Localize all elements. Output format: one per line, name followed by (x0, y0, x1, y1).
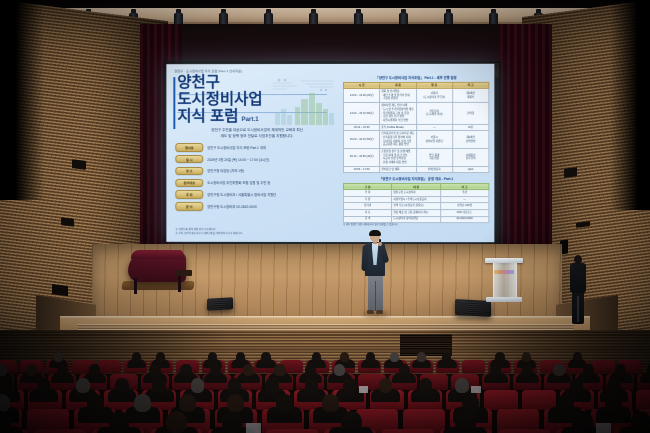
audience-member-head (57, 364, 68, 376)
program-cell-speaker: 법무·회계 자문위원 (416, 148, 452, 166)
theater-seat (34, 429, 86, 433)
handout-paper (596, 423, 611, 433)
audience-member-head (390, 352, 399, 362)
bullet-badge: 장 소 (175, 167, 203, 175)
audience-member-head (134, 394, 151, 412)
audience-member-head (553, 364, 564, 376)
program-cell-time: 15:20 ~ 16:10 (50분) (344, 131, 380, 149)
bullet-badge: 문 의 (175, 202, 203, 210)
audience-member-head (305, 364, 316, 376)
title-accent-rule (173, 77, 175, 129)
curtain-valance (140, 24, 552, 60)
program-cell-speaker: 전체 발표자 (416, 166, 452, 173)
audience-member-head (132, 352, 141, 362)
program-table-row: 14:00 ~ 14:20 (20분)개회 및 인사말씀 · 내빈 소개 및 참… (344, 88, 489, 102)
audience-member-head (265, 378, 279, 392)
lectern-light-band (494, 270, 514, 274)
audience-member-head (417, 352, 426, 362)
audience-member-head (0, 364, 7, 376)
program-cell-topic: 신속통합기획 및 모아타운 제도 · 신속통합기획 절차와 사례 · 모아타운 … (380, 131, 416, 149)
theater-seat (484, 390, 518, 410)
theater-seat (636, 390, 650, 410)
program-cell-speaker: 전문강사 (도시계획 박사) (416, 103, 452, 125)
slide-topbar: 양천구 · 도시정비사업 지식 포럼 (Part.1 안내자료) (174, 68, 489, 73)
program-cell-note: Q&A (452, 166, 488, 173)
bullet-text: 2025년 3월 20일 (목) 14:00 ~ 17:00 (3시간) (207, 157, 269, 162)
handout-paper (471, 386, 481, 393)
wall-speaker-left (72, 159, 86, 170)
right-corner-shadow (610, 0, 650, 210)
audience-member-head (149, 364, 160, 376)
theater-seat (462, 360, 485, 373)
audience-member-head (166, 411, 187, 433)
bullet-text: 양천구청 도시정비과 02-2620-0000 (207, 204, 257, 209)
theater-seat (592, 360, 615, 373)
program-cell-topic: 조합운영 실무 및 분쟁 예방 · 조합 회계 및 자금 관리 · 시공사 선정… (380, 148, 416, 166)
piano-bench (176, 270, 192, 276)
program-cell-topic: 개회 및 인사말씀 · 내빈 소개 및 참석자 안내 · 구청장 환영사 (380, 89, 416, 103)
audience-member-head (89, 364, 100, 376)
acrylic-lectern (489, 258, 519, 302)
program-cell-note: 사례중심 실무강의 (452, 148, 488, 166)
info-cell-n: 02-2620-0000 (440, 216, 489, 223)
audience-member-head (455, 411, 476, 433)
program-cell-topic: 질의응답 및 폐회 (380, 166, 416, 173)
audience-member-head (366, 352, 375, 362)
audience-member-head (274, 364, 285, 376)
info-table-body: 주 최양천구청 도시정비과주관후 원서울특별시 / 주택도시보증공사—참가비전액… (344, 190, 489, 223)
audience-member-head (305, 378, 319, 392)
auditorium-photo: 양천구 · 도시정비사업 지식 포럼 (Part.1 안내자료) (0, 0, 650, 433)
audience-member-head (607, 378, 621, 392)
presentation-slide: 양천구 · 도시정비사업 지식 포럼 (Part.1 안내자료) (166, 64, 494, 242)
audience-member-head (343, 378, 357, 392)
bullet-text: 양천구청 도시정비과 / 서울특별시 정비사업 지원단 (207, 192, 276, 197)
bullet-badge: 일 시 (175, 155, 203, 163)
audience-member-head (462, 394, 479, 412)
audience-member-head (179, 394, 196, 412)
bullet-badge: 행사명 (175, 143, 203, 151)
slide-right-column: 「양천구 도시정비사업 지식포럼」 Part.1 - 세부 진행 일정 시 간내… (343, 75, 489, 237)
audience-member-head (570, 378, 584, 392)
audience-member-head (109, 411, 130, 433)
slide-lead-text: 양천구 주민을 대상으로 도시정비사업의 체계적인 교육과 최신 제도 및 정책… (179, 128, 335, 139)
bullet-badge: 주 최 (175, 190, 203, 198)
program-cell-time: 14:00 ~ 14:20 (20분) (344, 89, 380, 103)
info-cell-v: 도시정비과 정비지원팀 (392, 216, 440, 223)
audience-member-head (180, 364, 191, 376)
audience-member-head (37, 378, 51, 392)
slide-bullet-item: 일 시2025년 3월 20일 (목) 14:00 ~ 17:00 (3시간) (175, 155, 339, 163)
theater-seat (498, 429, 550, 433)
audience-member-head (228, 378, 242, 392)
slide-bullet-item: 주 최양천구청 도시정비과 / 서울특별시 정비사업 지원단 (175, 190, 339, 198)
audience-member-head (191, 378, 205, 392)
program-cell-speaker: 사회자 (도시정비과 주무관) (416, 88, 452, 102)
program-cell-topic: 정비사업 제도 전반 이해 · 도시 및 주거환경정비법 개요 · 추진위원회 … (380, 103, 416, 125)
handout-paper (246, 423, 261, 433)
audience-member-head (276, 394, 293, 412)
projection-screen: 양천구 · 도시정비사업 지식 포럼 (Part.1 안내자료) (166, 64, 494, 242)
audience-member-head (615, 364, 626, 376)
audience-member-head (522, 352, 531, 362)
audience-member-head (455, 378, 469, 392)
wall-vent-left (52, 284, 68, 296)
program-cell-note: 제2세션 정책설명 (452, 131, 488, 149)
stage-monitor-speaker-left (207, 297, 233, 310)
audience-member-head (340, 352, 349, 362)
slide-bullet-item: 행사명양천구 도시정비사업 지식 포럼 Part.1 개최 (175, 143, 339, 151)
theater-seat (382, 429, 434, 433)
program-table: 시 간내 용발 표비 고 14:00 ~ 14:20 (20분)개회 및 인사말… (343, 81, 489, 173)
info-table-footnote: ※ 세부 일정은 현장 사정에 따라 일부 변경될 수 있습니다. (343, 224, 489, 228)
audience-member-head (156, 352, 165, 362)
audience-member-head (236, 352, 245, 362)
program-table-title: 「양천구 도시정비사업 지식포럼」 Part.1 - 세부 진행 일정 (343, 75, 489, 80)
program-table-row: 16:50 ~ 17:00질의응답 및 폐회전체 발표자Q&A (344, 166, 489, 173)
audience-member-head (495, 352, 504, 362)
audience-member-head (243, 364, 254, 376)
audience-member-head (399, 364, 410, 376)
audience-member-head (26, 364, 37, 376)
audience-member-head (152, 378, 166, 392)
bullet-badge: 참석대상 (175, 179, 203, 187)
audience-member-head (490, 364, 501, 376)
handout-paper (359, 386, 369, 393)
audience-member-head (334, 364, 345, 376)
audience-member-head (0, 394, 10, 412)
slide-bullet-list: 행사명양천구 도시정비사업 지식 포럼 Part.1 개최일 시2025년 3월… (175, 143, 339, 210)
audience-member-head (54, 352, 63, 362)
program-table-body: 14:00 ~ 14:20 (20분)개회 및 인사말씀 · 내빈 소개 및 참… (344, 88, 489, 172)
audience-member-head (631, 411, 650, 433)
info-table: 구 분내 용비 고 주 최양천구청 도시정비과주관후 원서울특별시 / 주택도시… (343, 183, 489, 223)
audience-member-head (222, 411, 243, 433)
slide-left-column: 양천구 도시정비사업 지식 포럼 Part.1 양천구 주민을 대상으로 도시정… (171, 75, 339, 237)
wall-fixture-left (61, 217, 74, 227)
bullet-text: 양천구 도시정비사업 지식 포럼 Part.1 개최 (207, 145, 266, 150)
wall-speaker-right (564, 167, 577, 178)
slide-bullet-item: 참석대상도시정비사업 추진위원회·조합 임원 및 주민 등 (175, 179, 339, 187)
audience-member-head (341, 411, 362, 433)
audience-member-head (312, 352, 321, 362)
audience-member-head (76, 378, 90, 392)
audience-member-head (227, 394, 244, 412)
slide-title-part: Part.1 (241, 116, 258, 123)
audience-member-head (115, 378, 129, 392)
city-skyline-illustration (271, 77, 337, 129)
slide-footnotes: ※ 사전등록 없이 현장 참석 가능합니다. ※ 주차 공간이 협소하오니 대중… (175, 228, 243, 236)
program-cell-note: 제1세션 개회식 (452, 88, 488, 102)
info-table-title: 「양천구 도시정비사업 지식포럼」 운영 개요 - Part.1 (343, 176, 489, 181)
audience-member-head (419, 378, 433, 392)
slide-bullet-item: 장 소양천구청 대강당 (지하 1층) (175, 167, 339, 175)
audience-member-head (208, 352, 217, 362)
audience-member-head (572, 411, 593, 433)
program-table-row: 14:20 ~ 15:10 (50분)정비사업 제도 전반 이해 · 도시 및 … (344, 103, 489, 125)
audience-area (0, 330, 650, 433)
slide-bullet-item: 문 의양천구청 도시정비과 02-2620-0000 (175, 202, 339, 211)
audience-member-head (442, 352, 451, 362)
program-cell-time: 14:20 ~ 15:10 (50분) (344, 103, 380, 125)
audience-member-head (322, 394, 339, 412)
info-table-row: 문 의도시정비과 정비지원팀02-2620-0000 (344, 216, 489, 223)
audience-member-head (573, 352, 582, 362)
audience-member-head (87, 394, 104, 412)
program-cell-time: 16:50 ~ 17:00 (344, 166, 380, 173)
audience-member-head (522, 364, 533, 376)
theater-seat (98, 360, 121, 373)
info-cell-k: 문 의 (344, 216, 392, 223)
audience-member-head (583, 364, 594, 376)
audience-member-head (210, 364, 221, 376)
audience-member-head (557, 394, 574, 412)
audience-member-head (605, 394, 622, 412)
program-table-row: 15:20 ~ 16:10 (50분)신속통합기획 및 모아타운 제도 · 신속… (344, 131, 489, 149)
audience-member-head (261, 352, 270, 362)
program-cell-note: 강의형 (452, 103, 488, 125)
bullet-text: 도시정비사업 추진위원회·조합 임원 및 주민 등 (207, 180, 270, 185)
standing-staff-member (568, 255, 588, 327)
program-cell-time: 16:10 ~ 16:50 (40분) (344, 148, 380, 166)
slide-title-line-3: 지식 포럼 (177, 109, 238, 125)
left-corner-shadow (0, 0, 44, 200)
presenter (361, 231, 389, 317)
audience-member-head (0, 378, 13, 392)
theater-seat (266, 429, 318, 433)
program-table-row: 16:10 ~ 16:50 (40분)조합운영 실무 및 분쟁 예방 · 조합 … (344, 148, 489, 166)
program-cell-speaker: 서울시 정비사업 지원단 (416, 131, 452, 149)
bullet-text: 양천구청 대강당 (지하 1층) (207, 168, 244, 173)
audience-member-head (379, 378, 393, 392)
